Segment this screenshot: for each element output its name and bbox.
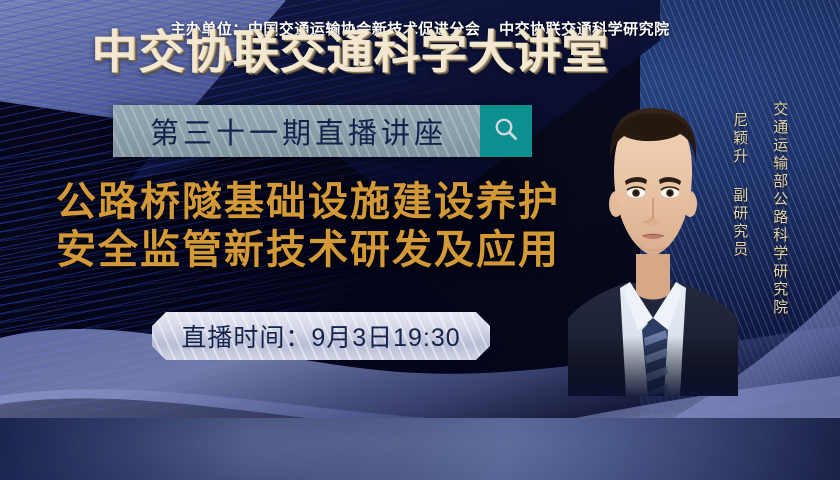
episode-banner-body: 第三十一期直播讲座: [113, 105, 480, 157]
speaker-organization: 交通运输部公路科学研究院: [768, 101, 791, 317]
lecture-title-line-1: 公路桥隧基础设施建设养护: [28, 178, 588, 226]
search-button[interactable]: [480, 105, 532, 157]
episode-label: 第三十一期直播讲座: [146, 110, 447, 152]
speaker-name-title: 尼颖升 副研究员: [728, 112, 751, 259]
episode-banner: 第三十一期直播讲座: [113, 105, 532, 157]
footer-bar: [0, 418, 840, 480]
search-icon: [492, 115, 520, 148]
speaker-portrait: [568, 86, 738, 396]
page-title: 中交协联交通科学大讲堂: [0, 16, 700, 82]
lecture-title: 公路桥隧基础设施建设养护 安全监管新技术研发及应用: [28, 178, 588, 274]
lecture-title-line-2: 安全监管新技术研发及应用: [28, 226, 588, 274]
livestream-poster: 中交协联交通科学大讲堂 第三十一期直播讲座 公路桥隧基础设施建设养护 安全监管新…: [0, 0, 840, 480]
broadcast-time-text: 直播时间：9月3日19:30: [181, 318, 460, 354]
broadcast-time-banner: 直播时间：9月3日19:30: [152, 312, 490, 360]
